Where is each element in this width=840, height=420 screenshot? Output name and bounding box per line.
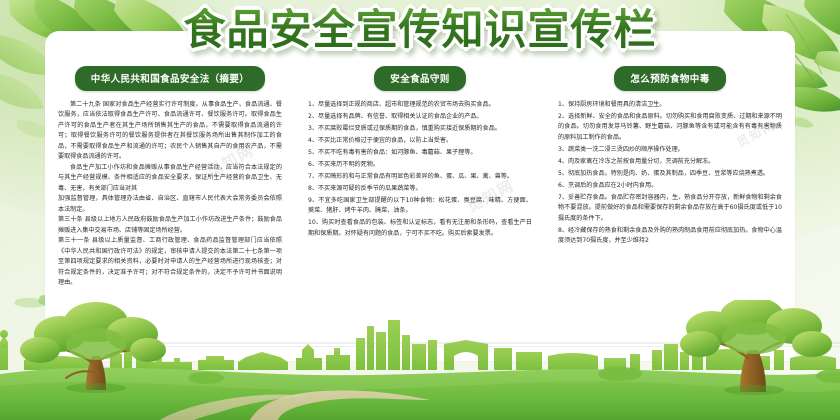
list-item: 1、尽量选择到正规的商店、超市和管理规范的农贸市场去购买食品。	[308, 100, 532, 110]
law-paragraph: 加强监督管理，具体管理办法由省、自治区、直辖市人民代表大会常务委员会依照本法制定…	[58, 194, 282, 215]
title-container: 食品安全宣传知识宣传栏	[0, 8, 840, 52]
list-item: 6、烹调后的食品应在2小时内食用。	[558, 181, 782, 191]
badge-row-1: 中华人民共和国食品安全法（摘要）	[58, 66, 282, 91]
list-item: 9、不宜多吃国家卫生部提醒的以下10种食物：松花蛋、臭豆腐、味精、方便面、葵菜、…	[308, 196, 532, 217]
list-item: 4、肉及家禽在冷冻之前按食用量分切，烹调前充分解冻。	[558, 157, 782, 167]
list-item: 3、蔬菜类一洗二浸三烫四炒的顺序操作处理。	[558, 145, 782, 155]
list-item: 10、购买时查看食品的包装、标签和认证标志，看有无注册和条形码，查看生产日期和保…	[308, 218, 532, 239]
section-badge-food-safety-law[interactable]: 中华人民共和国食品安全法（摘要）	[75, 66, 265, 91]
list-item: 3、不买腐败霉烂变质或过保质期的食品，慎重购买接近保质期的食品。	[308, 124, 532, 134]
list-item: 7、妥善贮存食品。食品贮存密封容器内，生、熟食品分开存放，新鲜食物和剩余食物不要…	[558, 193, 782, 224]
list-item: 5、不买不吃有毒有害的食品：如河豚鱼、毒蘑菇、果子狸等。	[308, 148, 532, 158]
law-paragraph: 第三十一条 县级以上质量监督、工商行政管理、食品药品监督管理部门应当依照《中华人…	[58, 236, 282, 288]
column-prevent-food-poisoning: 怎么预防食物中毒 1、保持厨房环境和餐用具的清洁卫生。 2、选择新鲜、安全的食品…	[545, 66, 795, 288]
list-item: 2、选择新鲜、安全的食品和食品原料。切勿购买和食用腐败变质、过期和来源不明的食品…	[558, 112, 782, 143]
badge-row-2: 安全食品守则	[308, 66, 532, 91]
list-item: 5、彻底加热食品，特别是肉、奶、蛋及其制品，四季豆、豆浆等应烧熟煮透。	[558, 169, 782, 179]
law-paragraph: 第三十条 县级以上地方人民政府鼓励食品生产加工小作坊改进生产条件；鼓励食品摊贩进…	[58, 215, 282, 236]
list-item: 6、不买来历不明的死物。	[308, 160, 532, 170]
page-title: 食品安全宣传知识宣传栏	[183, 8, 656, 52]
shrubs	[188, 367, 840, 384]
dirt-path-branch	[160, 395, 306, 420]
list-item: 7、不买畸形的和与正常食品有明显色彩差异的鱼、蛋、瓜、果、禽、兽等。	[308, 172, 532, 182]
section-badge-prevent-food-poisoning[interactable]: 怎么预防食物中毒	[614, 66, 725, 91]
law-paragraph: 第二十九条 国家对食品生产经营实行许可制度。从事食品生产、食品流通、餐饮服务，应…	[58, 100, 282, 163]
grass-hill-back	[0, 368, 840, 420]
list-item: 8、不买来源可疑的反季节的瓜果蔬菜等。	[308, 184, 532, 194]
poster-root: 食品安全宣传知识宣传栏 觅知网 觅知网 觅知网 中华人民共和国食品安全法（摘要）…	[0, 0, 840, 420]
column-food-safety-law: 中华人民共和国食品安全法（摘要） 第二十九条 国家对食品生产经营实行许可制度。从…	[45, 66, 295, 288]
list-item: 1、保持厨房环境和餐用具的清洁卫生。	[558, 100, 782, 110]
column-3-body: 1、保持厨房环境和餐用具的清洁卫生。 2、选择新鲜、安全的食品和食品原料。切勿购…	[558, 100, 782, 247]
column-safe-food-rules: 安全食品守则 1、尽量选择到正规的商店、超市和管理规范的农贸市场去购买食品。 2…	[295, 66, 545, 288]
law-paragraph: 食品生产加工小作坊和食品摊贩从事食品生产经营活动，应当符合本法规定的与其生产经营…	[58, 163, 282, 194]
column-2-body: 1、尽量选择到正规的商店、超市和管理规范的农贸市场去购买食品。 2、尽量选择有品…	[308, 100, 532, 239]
list-item: 4、不买比正常价格过于便宜的食品，以防上当受害。	[308, 136, 532, 146]
columns-container: 中华人民共和国食品安全法（摘要） 第二十九条 国家对食品生产经营实行许可制度。从…	[45, 66, 795, 288]
dirt-path	[250, 390, 430, 420]
grass-hill-front	[0, 381, 840, 420]
list-item: 2、尽量选择有品牌、有信誉、取得相关认证的食品企业的产品。	[308, 112, 532, 122]
column-1-body: 第二十九条 国家对食品生产经营实行许可制度。从事食品生产、食品流通、餐饮服务，应…	[58, 100, 282, 288]
section-badge-safe-food-rules[interactable]: 安全食品守则	[374, 66, 465, 91]
badge-row-3: 怎么预防食物中毒	[558, 66, 782, 91]
list-item: 8、经冷藏保存的熟食和剩余食品及外购的熟肉制品食用前应彻底加热。食物中心温度须达…	[558, 226, 782, 247]
